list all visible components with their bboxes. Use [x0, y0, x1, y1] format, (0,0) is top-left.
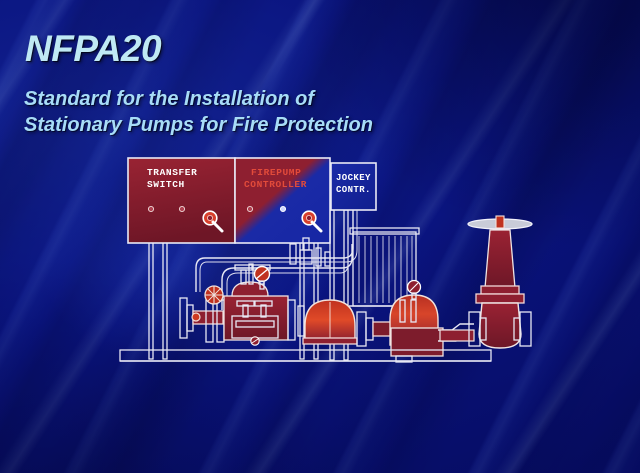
gate-valve-bonnet	[485, 230, 515, 288]
suction-butterfly-valve	[205, 286, 223, 304]
firepump-indicator-1	[247, 206, 252, 211]
slide-root: NFPA20 Standard for the Installation of …	[0, 0, 640, 473]
panel-firepump-controller[interactable]: FIREPUMP CONTROLLER	[235, 158, 330, 243]
gate-valve-handwheel	[468, 216, 532, 229]
gate-valve-body	[479, 303, 521, 348]
jockey-controller-label-1: JOCKEY	[336, 173, 371, 183]
panel-jockey-controller[interactable]: JOCKEY CONTR.	[331, 163, 376, 210]
discharge-gate-valve	[468, 216, 532, 348]
transfer-switch-indicator-2	[179, 206, 184, 211]
firepump-controller-label-2: CONTROLLER	[244, 179, 307, 190]
firepump-controller-label-1: FIREPUMP	[251, 167, 301, 178]
transfer-switch-indicator-1	[148, 206, 153, 211]
pump-volute	[303, 300, 357, 344]
jockey-pump-motor	[391, 328, 443, 356]
panel-transfer-switch[interactable]: TRANSFER SWITCH	[128, 158, 235, 243]
transfer-switch-label-2: SWITCH	[147, 179, 185, 190]
transfer-switch-label-1: TRANSFER	[147, 167, 197, 178]
suction-assembly	[180, 286, 224, 342]
heat-exchanger	[349, 228, 420, 306]
jockey-controller-label-2: CONTR.	[336, 185, 371, 195]
fire-pump-body	[224, 264, 304, 345]
firepump-indicator-2	[280, 206, 285, 211]
fire-pump-diagram: TRANSFER SWITCH FIREPUMP CONTROLLER	[0, 0, 640, 473]
